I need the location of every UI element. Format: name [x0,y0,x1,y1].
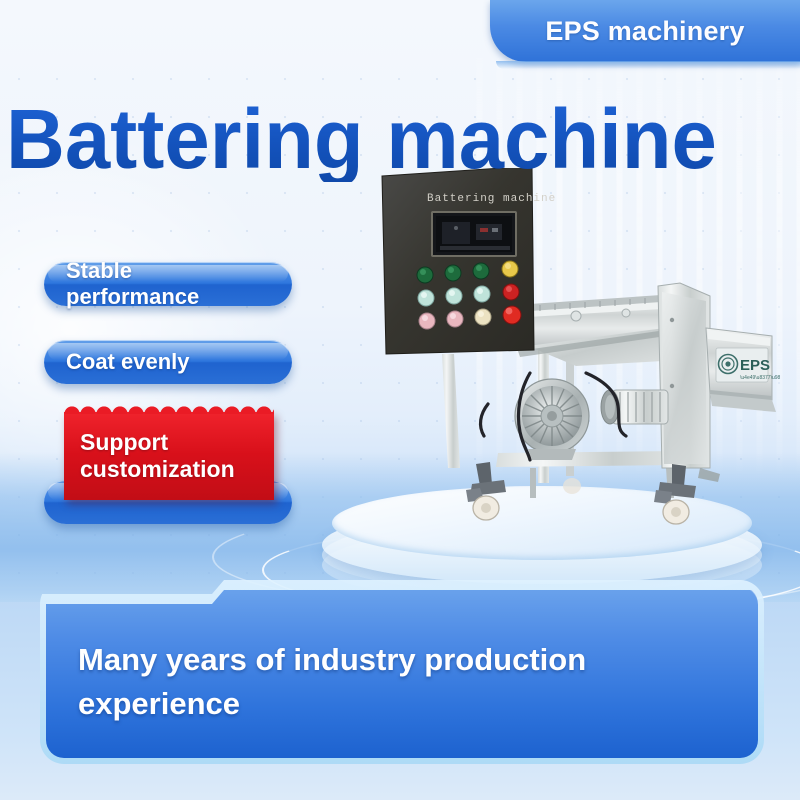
support-customization-ribbon[interactable]: Support customization [64,412,274,500]
header-brand-tab: EPS machinery [490,0,800,62]
product-image-battering-machine: EPS \u4e49\u8377\u98df\u54c1\u673a\u68b0 [380,168,780,528]
svg-text:EPS: EPS [740,357,770,374]
banner-stage: EPS machinery [0,0,800,800]
machine-gearbox [601,390,668,424]
svg-text:\u4e49\u8377\u98df\u54c1\u673a: \u4e49\u8377\u98df\u54c1\u673a\u68b0 [740,375,780,381]
machine-casters [466,462,720,524]
brand-name: EPS machinery [545,16,744,47]
feature-pill-stable-performance[interactable]: Stable performance [44,262,292,306]
footer-highlight-box: Many years of industry production experi… [46,586,758,758]
machine-cabinet: EPS \u4e49\u8377\u98df\u54c1\u673a\u68b0 [658,283,780,468]
ribbon-scallop-edge [64,405,274,414]
feature-pill-label: Stable performance [66,258,270,310]
ribbon-line-1: Support [80,429,274,456]
machine-hopper [510,294,680,366]
ribbon-line-2: customization [80,456,274,483]
feature-pill-coat-evenly[interactable]: Coat evenly [44,340,292,384]
page-title: Battering machine [6,96,776,182]
control-panel-label: Battering machine [427,193,556,205]
footer-headline: Many years of industry production experi… [78,638,734,726]
feature-pill-label: Coat evenly [66,349,190,375]
